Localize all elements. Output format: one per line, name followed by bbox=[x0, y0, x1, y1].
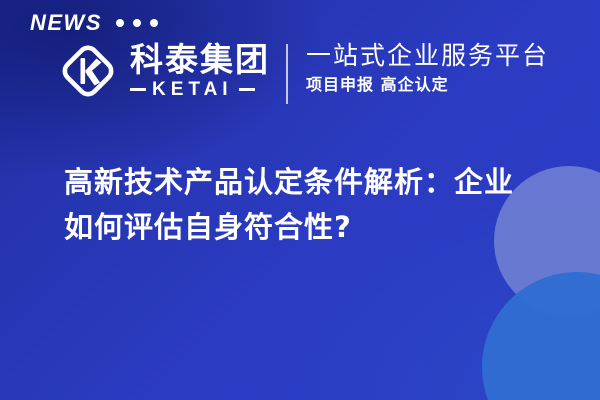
brand-name-en-row: KETAI bbox=[130, 80, 270, 99]
news-eyebrow-label: NEWS bbox=[30, 12, 102, 34]
brand-wordmark: 科泰集团 KETAI bbox=[130, 43, 270, 99]
tagline-main: 一站式企业服务平台 bbox=[306, 42, 549, 71]
ketai-diamond-k-logo-icon bbox=[58, 40, 118, 102]
brand-name-cn: 科泰集团 bbox=[130, 43, 270, 78]
tagline-sub: 项目申报 高企认定 bbox=[306, 75, 549, 94]
dot-icon bbox=[150, 19, 158, 27]
tagline-block: 一站式企业服务平台 项目申报 高企认定 bbox=[306, 42, 549, 94]
news-eyebrow-dots-icon bbox=[116, 19, 158, 27]
rule-left-icon bbox=[130, 88, 146, 91]
headline: 高新技术产品认定条件解析：企业 如何评估自身符合性? bbox=[64, 160, 564, 250]
dot-icon bbox=[116, 19, 124, 27]
dot-icon bbox=[133, 19, 141, 27]
brand-divider bbox=[286, 44, 288, 104]
headline-line-2: 如何评估自身符合性? bbox=[64, 205, 564, 250]
rule-right-icon bbox=[239, 88, 255, 91]
news-eyebrow: NEWS bbox=[30, 12, 158, 34]
brand-name-en: KETAI bbox=[152, 80, 233, 99]
headline-line-1: 高新技术产品认定条件解析：企业 bbox=[64, 160, 564, 205]
news-banner: NEWS 科泰集团 KE bbox=[0, 0, 600, 400]
brand-lockup: 科泰集团 KETAI bbox=[58, 40, 270, 102]
